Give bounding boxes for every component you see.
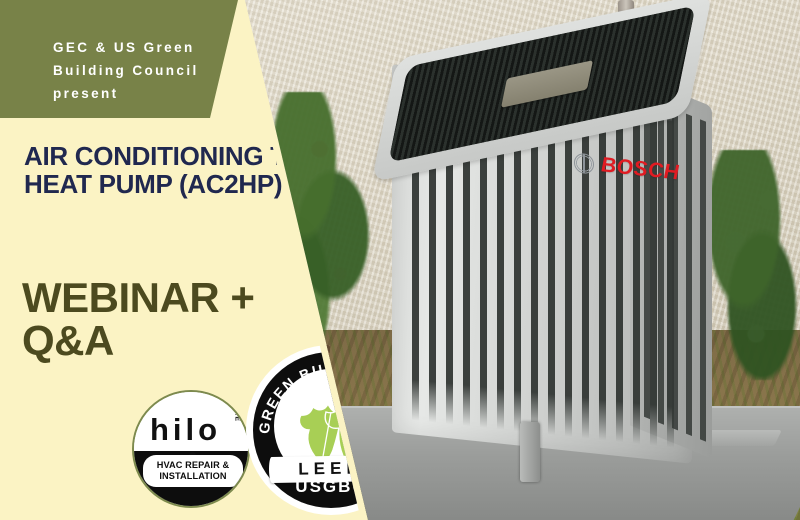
bosch-emblem-icon <box>574 152 594 174</box>
hilo-tagline-line-2: INSTALLATION <box>147 471 239 482</box>
hilo-wordmark: hilo <box>150 414 221 445</box>
condenser-louvers-side <box>636 93 708 442</box>
presenter-eyebrow: GEC & US Green Building Council present <box>53 36 233 106</box>
hilo-tagline-line-1: HVAC REPAIR & <box>147 460 239 471</box>
ac-condenser-unit: BOSCH <box>392 28 722 468</box>
hilo-aire-logo: hilo AIRE HVAC REPAIR & INSTALLATION <box>132 390 250 508</box>
webinar-promo-banner: BOSCH GEC & US Green Building Council pr… <box>0 0 800 520</box>
webinar-subtitle: WEBINAR + Q&A <box>22 277 302 363</box>
hilo-aire-vertical-text: AIRE <box>234 401 241 422</box>
page-title: AIR CONDITIONING TO HEAT PUMP (AC2HP) <box>24 143 314 199</box>
condenser-disconnect-bracket <box>520 422 540 482</box>
hilo-tagline-pill: HVAC REPAIR & INSTALLATION <box>143 455 243 487</box>
